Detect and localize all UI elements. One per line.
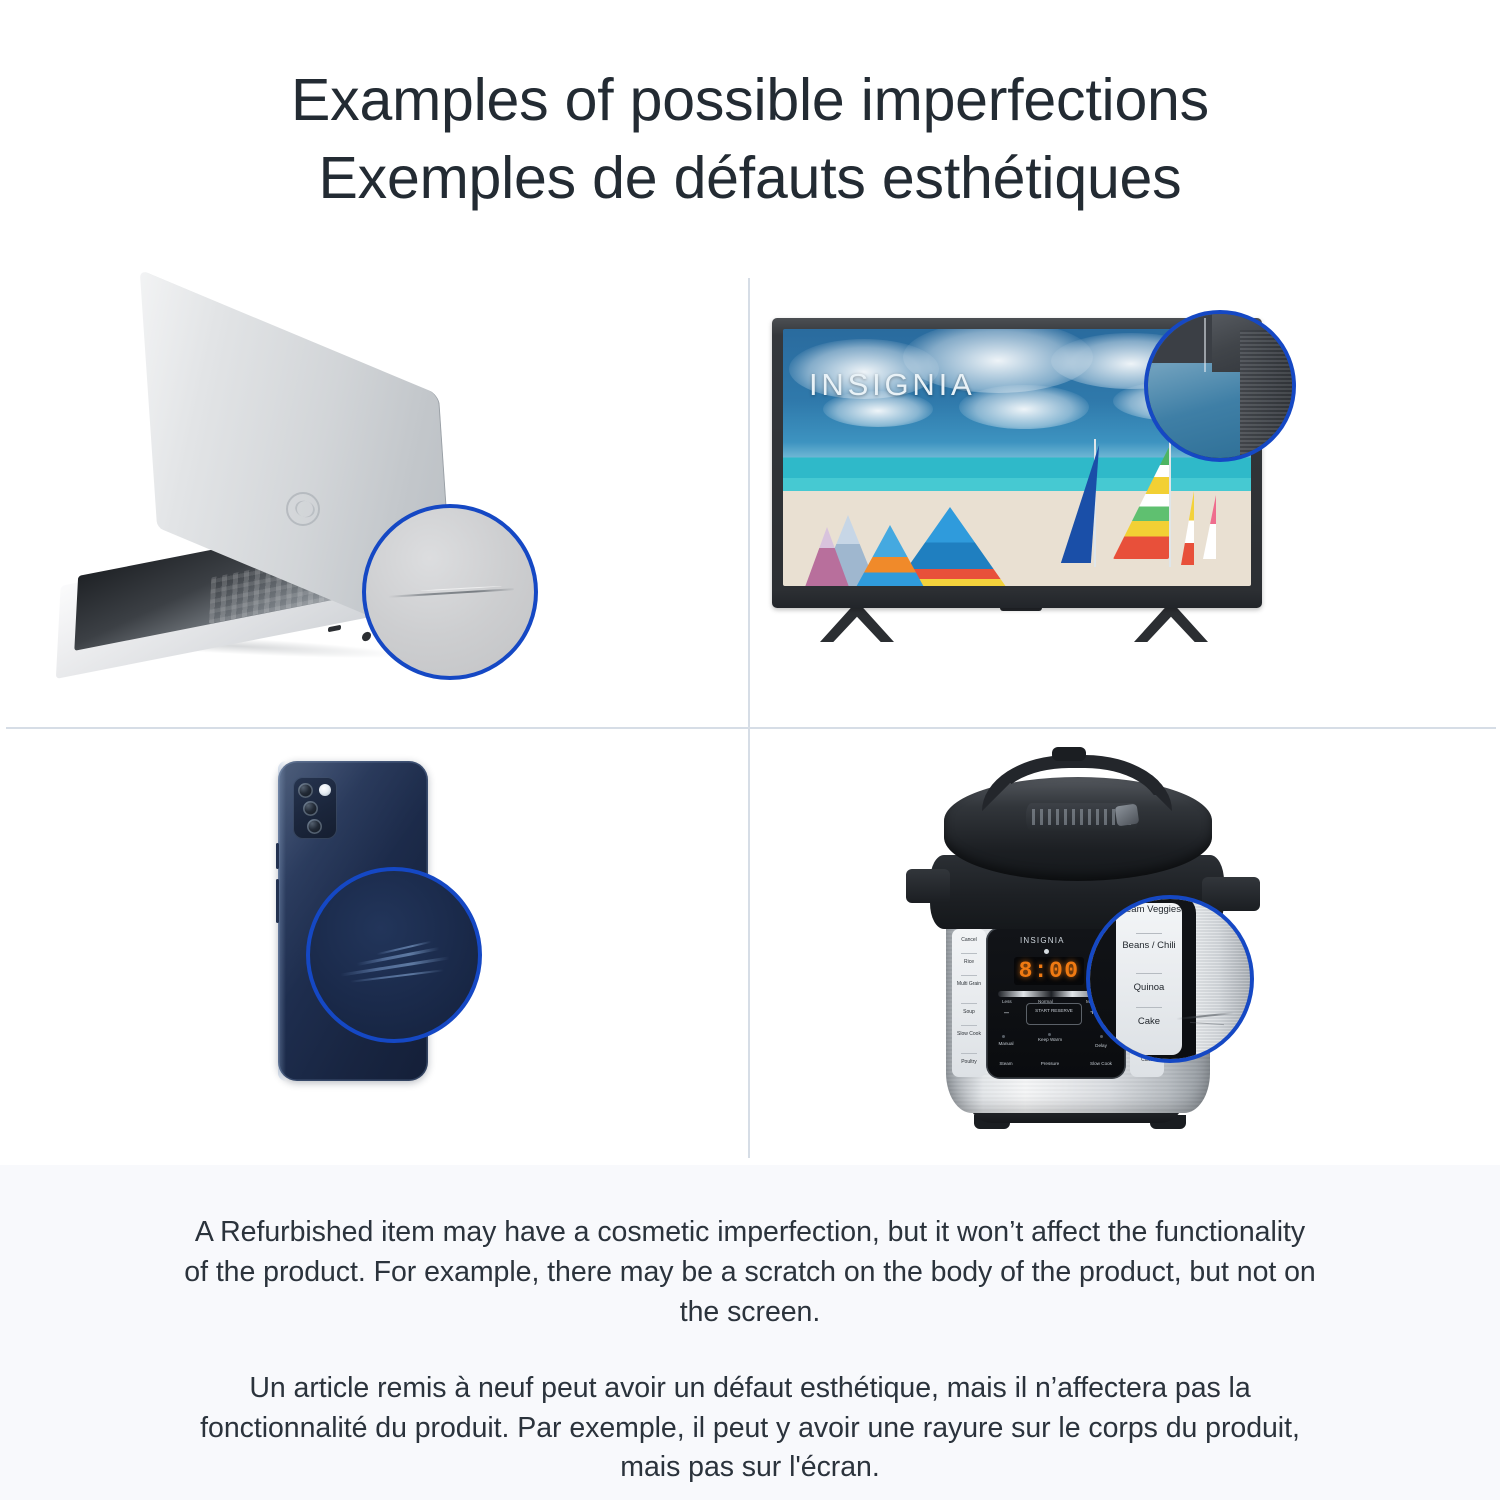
example-cell-television: INSIGNIA bbox=[750, 270, 1500, 727]
camera-lens-icon bbox=[303, 801, 318, 816]
cooker-button-divider bbox=[961, 1025, 977, 1026]
sailboat-striped-sail bbox=[1113, 447, 1169, 559]
cooker-button-manual[interactable]: Manual bbox=[992, 1041, 1020, 1046]
phone-scuff-line bbox=[340, 956, 449, 976]
phone-side-edge bbox=[278, 761, 286, 1081]
dell-circle-logo-icon bbox=[286, 492, 320, 526]
cooker-button-multigrain[interactable]: Multi Grain bbox=[952, 981, 986, 987]
tv-magnifier-bubble bbox=[1144, 310, 1296, 462]
page-title-english: Examples of possible imperfections bbox=[0, 62, 1500, 140]
cooker-button-led bbox=[1002, 1035, 1005, 1038]
product-examples-grid: INSIGNIA bbox=[0, 270, 1500, 1165]
example-cell-smartphone bbox=[0, 729, 748, 1165]
tv-magnified-side-rail bbox=[1240, 330, 1296, 458]
camera-lens-icon bbox=[298, 783, 313, 798]
tv-foot-right bbox=[1134, 606, 1208, 642]
magnified-button-divider bbox=[1136, 933, 1162, 934]
magnified-button-divider bbox=[1136, 973, 1162, 974]
footer-disclaimer: A Refurbished item may have a cosmetic i… bbox=[0, 1165, 1500, 1500]
cooker-lid-handle bbox=[982, 755, 1172, 811]
cooker-button-poultry[interactable]: Poultry bbox=[952, 1059, 986, 1065]
laptop-audio-jack bbox=[362, 631, 371, 642]
phone-magnifier-bubble bbox=[306, 867, 482, 1043]
smartphone-product-image bbox=[246, 749, 526, 1149]
cooker-button-slowcook2[interactable]: Slow Cook bbox=[1084, 1061, 1118, 1066]
camera-lens-icon bbox=[307, 819, 322, 834]
camera-flash-icon bbox=[319, 784, 331, 796]
cooker-button-keepwarm[interactable]: Keep Warm bbox=[1034, 1037, 1066, 1042]
cooker-button-led bbox=[1048, 1033, 1051, 1036]
cooker-button-divider bbox=[961, 1053, 977, 1054]
cooker-button-divider bbox=[961, 1003, 977, 1004]
cooker-panel-brand-logo: INSIGNIA bbox=[1020, 936, 1065, 945]
cooker-button-rice[interactable]: Rice bbox=[952, 959, 986, 965]
tv-scratch-line bbox=[1204, 318, 1206, 372]
sailboat-small-sail bbox=[1181, 491, 1194, 565]
magnified-button-divider bbox=[1136, 1007, 1162, 1008]
disclaimer-paragraph-english: A Refurbished item may have a cosmetic i… bbox=[180, 1213, 1320, 1333]
tv-foot-left bbox=[820, 606, 894, 642]
cooker-handle-top-knob bbox=[1052, 747, 1086, 761]
cooker-left-button-column: Cancel Rice Multi Grain Soup Slow Cook P… bbox=[952, 929, 986, 1077]
footer-text-container: A Refurbished item may have a cosmetic i… bbox=[180, 1213, 1320, 1488]
page-title-french: Exemples de défauts esthétiques bbox=[0, 140, 1500, 218]
page-header: Examples of possible imperfections Exemp… bbox=[0, 0, 1500, 270]
cooker-display-value: 8:00 bbox=[1019, 960, 1080, 983]
cooker-button-pressure[interactable]: Pressure bbox=[1034, 1061, 1066, 1066]
television-product-image: INSIGNIA bbox=[762, 310, 1462, 680]
magnified-button-quinoa[interactable]: Quinoa bbox=[1116, 983, 1182, 993]
cooker-magnifier-bubble: Steam Veggies Beans / Chili Quinoa Cake bbox=[1086, 895, 1254, 1063]
sailboat-small-sail bbox=[1203, 495, 1216, 559]
cooker-start-button-label: START RESERVE bbox=[1027, 1008, 1081, 1014]
tv-screen-brand-logo: INSIGNIA bbox=[809, 367, 975, 403]
cooker-status-led bbox=[1044, 949, 1049, 954]
beach-tent bbox=[855, 525, 925, 586]
example-cell-laptop bbox=[0, 270, 748, 727]
cooker-button-cancel[interactable]: Cancel bbox=[952, 937, 986, 943]
cooker-side-handle-left bbox=[906, 869, 950, 903]
magnified-button-steamveggies[interactable]: Steam Veggies bbox=[1116, 905, 1182, 915]
magnified-button-beanschili[interactable]: Beans / Chili bbox=[1116, 941, 1182, 951]
pressure-cooker-product-image: Cancel Rice Multi Grain Soup Slow Cook P… bbox=[920, 743, 1320, 1153]
cooker-button-slowcook[interactable]: Slow Cook bbox=[952, 1031, 986, 1037]
example-cell-pressure-cooker: Cancel Rice Multi Grain Soup Slow Cook P… bbox=[750, 729, 1500, 1165]
cooker-magnified-button-column: Steam Veggies Beans / Chili Quinoa Cake bbox=[1116, 903, 1182, 1055]
cooker-lcd-display: 8:00 bbox=[1014, 957, 1084, 985]
cooker-slider-label-less: Less bbox=[1002, 999, 1012, 1004]
laptop-product-image bbox=[40, 308, 600, 698]
cooker-minus-button[interactable]: – bbox=[1004, 1007, 1009, 1017]
phone-volume-button bbox=[276, 843, 279, 869]
phone-power-button bbox=[276, 879, 279, 923]
cooker-button-divider bbox=[961, 975, 977, 976]
cooker-button-divider bbox=[961, 953, 977, 954]
refurbished-imperfections-infographic: Examples of possible imperfections Exemp… bbox=[0, 0, 1500, 1500]
laptop-usb-c-port bbox=[328, 625, 341, 633]
laptop-magnifier-bubble bbox=[362, 504, 538, 680]
cooker-start-button[interactable]: START RESERVE bbox=[1026, 1003, 1082, 1025]
phone-camera-module bbox=[293, 777, 337, 839]
cooker-button-steam[interactable]: Steam bbox=[992, 1061, 1020, 1066]
cloud-shape bbox=[959, 385, 1089, 429]
cooker-button-soup[interactable]: Soup bbox=[952, 1009, 986, 1015]
magnified-button-cake[interactable]: Cake bbox=[1116, 1017, 1182, 1027]
disclaimer-paragraph-french: Un article remis à neuf peut avoir un dé… bbox=[180, 1369, 1320, 1489]
